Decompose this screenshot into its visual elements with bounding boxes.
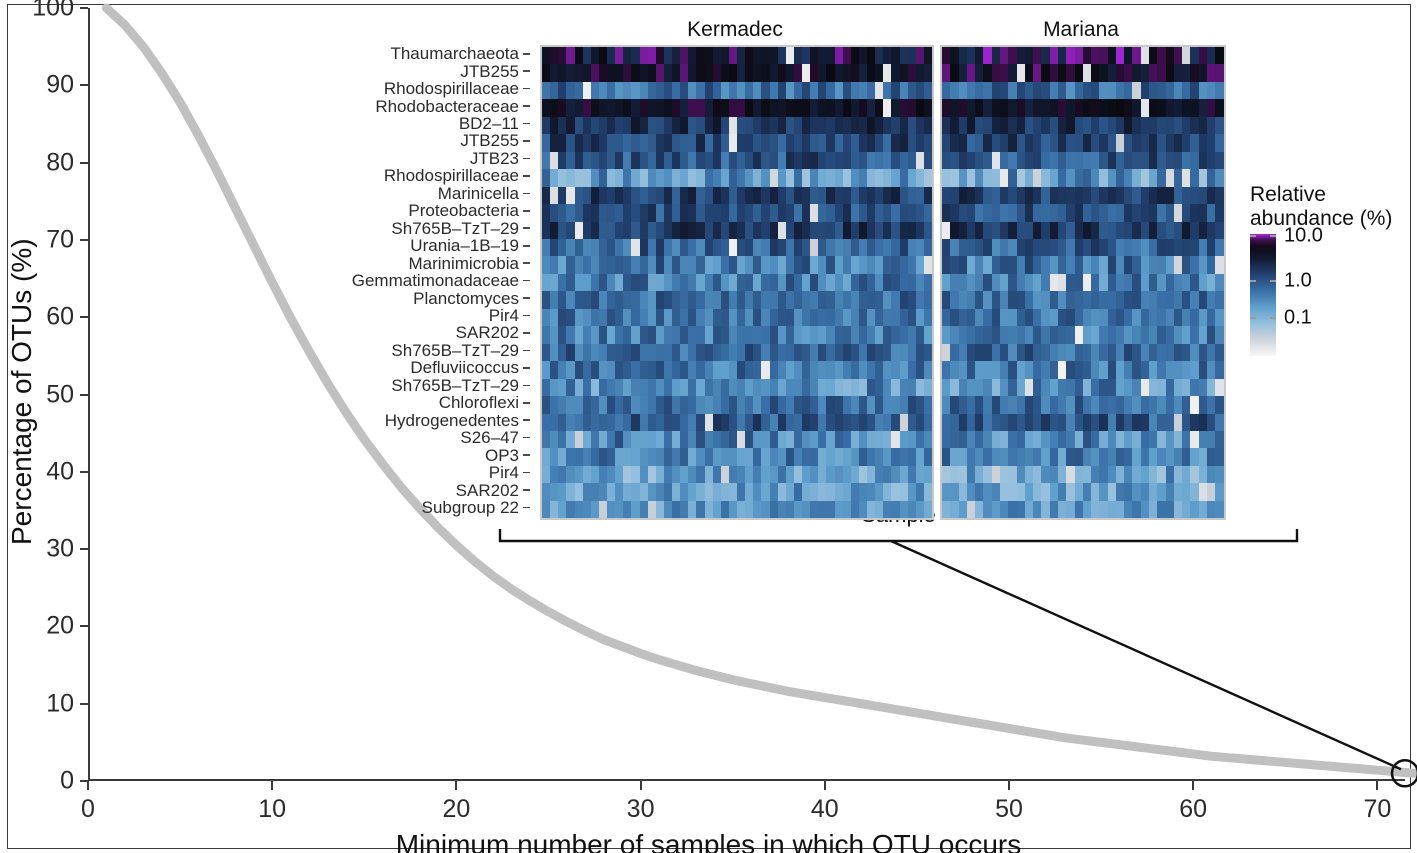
heatmap-cell [1124, 222, 1132, 239]
heatmap-cell [1215, 466, 1223, 483]
heatmap-row-tick [523, 507, 530, 509]
heatmap-cell [583, 222, 591, 239]
heatmap-cell [753, 396, 761, 413]
heatmap-cell [851, 379, 859, 396]
heatmap-cell [835, 169, 843, 186]
heatmap-cell [786, 344, 794, 361]
heatmap-cell [778, 414, 786, 431]
heatmap-cell [745, 47, 753, 64]
heatmap-cell [942, 256, 950, 273]
heatmap-cell [1199, 134, 1207, 151]
heatmap-cell [959, 483, 967, 500]
heatmap-cell [761, 256, 769, 273]
heatmap-row-label-row: Thaumarchaeota [330, 45, 530, 62]
heatmap-cell [916, 82, 924, 99]
heatmap-cell [640, 483, 648, 500]
heatmap-cell [1215, 414, 1223, 431]
heatmap-cell [1157, 379, 1165, 396]
heatmap-cell [786, 326, 794, 343]
heatmap-cell [1083, 169, 1091, 186]
heatmap-cell [851, 414, 859, 431]
heatmap-cell [1149, 187, 1157, 204]
heatmap-cell [1166, 361, 1174, 378]
heatmap-cell [1083, 344, 1091, 361]
heatmap-cell [607, 501, 615, 518]
heatmap-cell [950, 501, 958, 518]
heatmap-cell [607, 239, 615, 256]
heatmap-cell [843, 396, 851, 413]
heatmap-cell [1149, 396, 1157, 413]
heatmap-cell [975, 256, 983, 273]
heatmap-cell [959, 344, 967, 361]
heatmap-cell [696, 379, 704, 396]
heatmap-cell [1124, 187, 1132, 204]
heatmap-cell [721, 501, 729, 518]
heatmap-cell [1099, 274, 1107, 291]
heatmap-cell [1116, 309, 1124, 326]
heatmap-cell [591, 99, 599, 116]
heatmap-cell [737, 239, 745, 256]
heatmap-cell [786, 396, 794, 413]
heatmap-cell [794, 134, 802, 151]
heatmap-cell [672, 187, 680, 204]
heatmap-cell [959, 414, 967, 431]
heatmap-cell [558, 117, 566, 134]
heatmap-cell [867, 99, 875, 116]
heatmap-cell [640, 326, 648, 343]
heatmap-cell [818, 466, 826, 483]
heatmap-cell [942, 326, 950, 343]
heatmap-cell [875, 361, 883, 378]
heatmap-cell [1132, 222, 1140, 239]
heatmap-cell [992, 379, 1000, 396]
heatmap-row [542, 169, 932, 186]
heatmap-cell [1066, 47, 1074, 64]
heatmap-cell [607, 379, 615, 396]
legend-tick [1250, 280, 1256, 282]
heatmap-cell [696, 152, 704, 169]
heatmap-cell [1025, 361, 1033, 378]
heatmap-cell [713, 256, 721, 273]
heatmap-cell [1132, 117, 1140, 134]
heatmap-cell [875, 99, 883, 116]
heatmap-cell [1124, 117, 1132, 134]
heatmap-cell [745, 344, 753, 361]
x-tick-label-70: 70 [1363, 795, 1391, 824]
heatmap-cell [942, 152, 950, 169]
heatmap-cell [826, 291, 834, 308]
heatmap-cell [640, 152, 648, 169]
heatmap-cell [1182, 396, 1190, 413]
heatmap-cell [1207, 187, 1215, 204]
heatmap-cell [1215, 169, 1223, 186]
heatmap-cell [794, 431, 802, 448]
heatmap-cell [1017, 99, 1025, 116]
heatmap-cell [1116, 344, 1124, 361]
heatmap-cell [542, 414, 550, 431]
heatmap-cell [1083, 466, 1091, 483]
heatmap-cell [975, 466, 983, 483]
heatmap-cell [891, 466, 899, 483]
heatmap-cell [680, 222, 688, 239]
heatmap-cell [900, 222, 908, 239]
heatmap-cell [883, 483, 891, 500]
heatmap-cell [802, 99, 810, 116]
heatmap-cell [729, 379, 737, 396]
heatmap-cell [1166, 47, 1174, 64]
heatmap-cell [1058, 222, 1066, 239]
heatmap-cell [924, 204, 932, 221]
heatmap-cell [729, 239, 737, 256]
heatmap-cell [883, 47, 891, 64]
heatmap-cell [818, 379, 826, 396]
heatmap-cell [713, 361, 721, 378]
heatmap-row-tick [523, 454, 530, 456]
heatmap-row-tick [523, 105, 530, 107]
heatmap-cell [770, 99, 778, 116]
heatmap-cell [753, 239, 761, 256]
heatmap-cell [1025, 99, 1033, 116]
heatmap-cell [1017, 414, 1025, 431]
heatmap-cell [1132, 431, 1140, 448]
heatmap-cell [1075, 64, 1083, 81]
heatmap-cell [875, 466, 883, 483]
heatmap-cell [900, 82, 908, 99]
heatmap-cell [1190, 47, 1198, 64]
y-tick-label-10: 10 [46, 689, 74, 718]
heatmap-cell [599, 64, 607, 81]
heatmap-cell [867, 204, 875, 221]
heatmap-cell [916, 361, 924, 378]
heatmap-cell [1099, 344, 1107, 361]
heatmap-cell [794, 274, 802, 291]
heatmap-cell [1124, 204, 1132, 221]
heatmap-cell [1091, 431, 1099, 448]
heatmap-cell [1141, 483, 1149, 500]
heatmap-cell [729, 483, 737, 500]
heatmap-cell [1157, 274, 1165, 291]
heatmap-cell [664, 448, 672, 465]
heatmap-cell [950, 291, 958, 308]
heatmap-cell [1190, 466, 1198, 483]
heatmap-cell [891, 117, 899, 134]
heatmap-cell [753, 361, 761, 378]
heatmap-cell [875, 82, 883, 99]
heatmap-cell [1116, 483, 1124, 500]
heatmap-cell [753, 274, 761, 291]
heatmap-cell [566, 47, 574, 64]
heatmap-cell [1083, 99, 1091, 116]
heatmap-cell [631, 99, 639, 116]
heatmap-cell [867, 64, 875, 81]
heatmap-cell [1083, 134, 1091, 151]
heatmap-cell [1124, 309, 1132, 326]
heatmap-cell [810, 291, 818, 308]
heatmap-cell [1215, 379, 1223, 396]
heatmap-cell [1190, 222, 1198, 239]
heatmap-cell [1190, 82, 1198, 99]
heatmap-cell [1008, 169, 1016, 186]
heatmap-cell [550, 466, 558, 483]
heatmap-cell [875, 448, 883, 465]
heatmap-cell [983, 483, 991, 500]
heatmap-cell [721, 256, 729, 273]
heatmap-cell [631, 431, 639, 448]
heatmap-cell [1166, 309, 1174, 326]
heatmap-cell [875, 501, 883, 518]
heatmap-cell [721, 379, 729, 396]
heatmap-cell [583, 274, 591, 291]
heatmap-cell [656, 309, 664, 326]
heatmap-row-label-row: Rhodospirillaceae [330, 80, 530, 97]
heatmap-cell [794, 204, 802, 221]
y-tick-mark [80, 548, 88, 550]
heatmap-row [542, 187, 932, 204]
heatmap-cell [737, 274, 745, 291]
heatmap-cell [721, 396, 729, 413]
heatmap-cell [648, 134, 656, 151]
heatmap-cell [729, 274, 737, 291]
heatmap-cell [721, 47, 729, 64]
heatmap-cell [1008, 379, 1016, 396]
heatmap-cell [802, 466, 810, 483]
heatmap-cell [1199, 152, 1207, 169]
heatmap-cell [550, 222, 558, 239]
heatmap-cell [583, 64, 591, 81]
heatmap-cell [1091, 239, 1099, 256]
heatmap-cell [1075, 187, 1083, 204]
heatmap-cell [826, 134, 834, 151]
heatmap-cell [1124, 64, 1132, 81]
heatmap-cell [1017, 274, 1025, 291]
heatmap-cell [802, 204, 810, 221]
heatmap-cell [1116, 256, 1124, 273]
heatmap-cell [1091, 291, 1099, 308]
heatmap-cell [1066, 82, 1074, 99]
heatmap-cell [1207, 239, 1215, 256]
heatmap-cell [688, 47, 696, 64]
heatmap-cell [1058, 99, 1066, 116]
heatmap-cell [908, 204, 916, 221]
heatmap-cell [753, 379, 761, 396]
heatmap-row [542, 291, 932, 308]
heatmap-cell [558, 431, 566, 448]
heatmap-cell [916, 187, 924, 204]
heatmap-cell [591, 414, 599, 431]
heatmap-cell [648, 448, 656, 465]
heatmap-cell [1008, 204, 1016, 221]
heatmap-cell [1116, 361, 1124, 378]
heatmap-cell [753, 309, 761, 326]
heatmap-cell [891, 501, 899, 518]
heatmap-cell [753, 414, 761, 431]
heatmap-cell [1174, 239, 1182, 256]
heatmap-cell [664, 326, 672, 343]
heatmap-cell [558, 134, 566, 151]
heatmap-cell [851, 309, 859, 326]
heatmap-cell [859, 47, 867, 64]
heatmap-cell [794, 291, 802, 308]
heatmap-cell [770, 466, 778, 483]
heatmap-cell [575, 99, 583, 116]
heatmap-cell [967, 309, 975, 326]
heatmap-cell [1091, 379, 1099, 396]
heatmap-cell [664, 47, 672, 64]
heatmap-cell [1132, 152, 1140, 169]
heatmap-cell [1075, 82, 1083, 99]
heatmap-cell [826, 64, 834, 81]
heatmap-cell [558, 222, 566, 239]
heatmap-cell [688, 414, 696, 431]
heatmap-cell [680, 291, 688, 308]
heatmap-cell [550, 274, 558, 291]
heatmap-cell [924, 466, 932, 483]
heatmap-cell [1083, 256, 1091, 273]
heatmap-cell [1116, 222, 1124, 239]
heatmap-cell [1166, 152, 1174, 169]
heatmap-cell [1008, 256, 1016, 273]
heatmap-cell [1099, 326, 1107, 343]
x-tick-label-10: 10 [258, 795, 286, 824]
heatmap-cell [623, 291, 631, 308]
heatmap-row-label: Hydrogenedentes [385, 412, 519, 429]
heatmap-cell [761, 117, 769, 134]
heatmap-cell [615, 501, 623, 518]
heatmap-cell [1041, 379, 1049, 396]
heatmap-cell [992, 169, 1000, 186]
heatmap-cell [753, 152, 761, 169]
heatmap-row [542, 361, 932, 378]
heatmap-cell [950, 431, 958, 448]
heatmap-cell [1075, 396, 1083, 413]
heatmap-cell [1066, 431, 1074, 448]
heatmap-cell [1041, 134, 1049, 151]
heatmap-cell [656, 204, 664, 221]
heatmap-cell [705, 222, 713, 239]
heatmap-cell [656, 239, 664, 256]
heatmap-cell [1000, 414, 1008, 431]
heatmap-cell [672, 256, 680, 273]
heatmap-cell [975, 379, 983, 396]
heatmap-cell [1132, 291, 1140, 308]
heatmap-cell [835, 64, 843, 81]
heatmap-cell [1066, 134, 1074, 151]
heatmap-cell [975, 239, 983, 256]
heatmap-cell [851, 274, 859, 291]
heatmap-cell [1066, 274, 1074, 291]
heatmap-row-label-row: Gemmatimonadaceae [330, 272, 530, 289]
heatmap-cell [1033, 361, 1041, 378]
heatmap-cell [1116, 82, 1124, 99]
heatmap-cell [1058, 47, 1066, 64]
heatmap-cell [1108, 483, 1116, 500]
heatmap-cell [696, 344, 704, 361]
heatmap-cell [1000, 64, 1008, 81]
heatmap-cell [664, 82, 672, 99]
heatmap-cell [959, 134, 967, 151]
heatmap-cell [992, 64, 1000, 81]
heatmap-cell [705, 414, 713, 431]
heatmap-cell [1050, 291, 1058, 308]
heatmap-cell [705, 117, 713, 134]
heatmap-cell [566, 64, 574, 81]
heatmap-cell [753, 187, 761, 204]
heatmap-cell [575, 239, 583, 256]
heatmap-cell [891, 291, 899, 308]
heatmap-cell [583, 309, 591, 326]
heatmap-cell [607, 256, 615, 273]
heatmap-cell [672, 309, 680, 326]
heatmap-cell [835, 379, 843, 396]
heatmap-cell [1149, 414, 1157, 431]
heatmap-cell [1116, 501, 1124, 518]
heatmap-cell [1207, 344, 1215, 361]
heatmap-cell [1149, 361, 1157, 378]
heatmap-cell [656, 448, 664, 465]
heatmap-cell [867, 291, 875, 308]
heatmap-cell [1025, 256, 1033, 273]
heatmap-cell [1066, 448, 1074, 465]
heatmap-cell [640, 396, 648, 413]
heatmap-cell [1017, 448, 1025, 465]
heatmap-cell [1166, 64, 1174, 81]
heatmap-row-label-row: OP3 [330, 446, 530, 463]
heatmap-cell [591, 239, 599, 256]
heatmap-cell [623, 204, 631, 221]
heatmap-cell [664, 256, 672, 273]
heatmap-cell [770, 274, 778, 291]
heatmap-cell [575, 169, 583, 186]
heatmap-cell [737, 344, 745, 361]
heatmap-cell [924, 99, 932, 116]
heatmap-cell [1166, 326, 1174, 343]
heatmap-cell [835, 99, 843, 116]
heatmap-cell [656, 379, 664, 396]
heatmap-cell [640, 379, 648, 396]
heatmap-row-tick [523, 297, 530, 299]
heatmap-cell [1017, 379, 1025, 396]
heatmap-cell [1000, 361, 1008, 378]
heatmap-cell [1174, 414, 1182, 431]
heatmap-cell [1091, 501, 1099, 518]
heatmap-cell [1058, 344, 1066, 361]
heatmap-cell [745, 169, 753, 186]
heatmap-cell [1033, 483, 1041, 500]
heatmap-cell [558, 309, 566, 326]
heatmap-cell [924, 239, 932, 256]
heatmap-cell [1182, 239, 1190, 256]
heatmap-cell [900, 291, 908, 308]
heatmap-cell [713, 448, 721, 465]
heatmap-cell [843, 361, 851, 378]
heatmap-cell [1157, 396, 1165, 413]
heatmap-cell [1116, 187, 1124, 204]
heatmap-cell [640, 47, 648, 64]
heatmap-cell [975, 169, 983, 186]
heatmap-cell [942, 448, 950, 465]
heatmap-cell [550, 204, 558, 221]
heatmap-cell [1033, 64, 1041, 81]
heatmap-cell [1000, 326, 1008, 343]
heatmap-cell [1166, 222, 1174, 239]
heatmap-cell [737, 379, 745, 396]
heatmap-cell [1025, 274, 1033, 291]
heatmap-cell [550, 152, 558, 169]
heatmap-cell [1058, 466, 1066, 483]
heatmap-cell [786, 361, 794, 378]
heatmap-cell [745, 291, 753, 308]
heatmap-cell [851, 431, 859, 448]
